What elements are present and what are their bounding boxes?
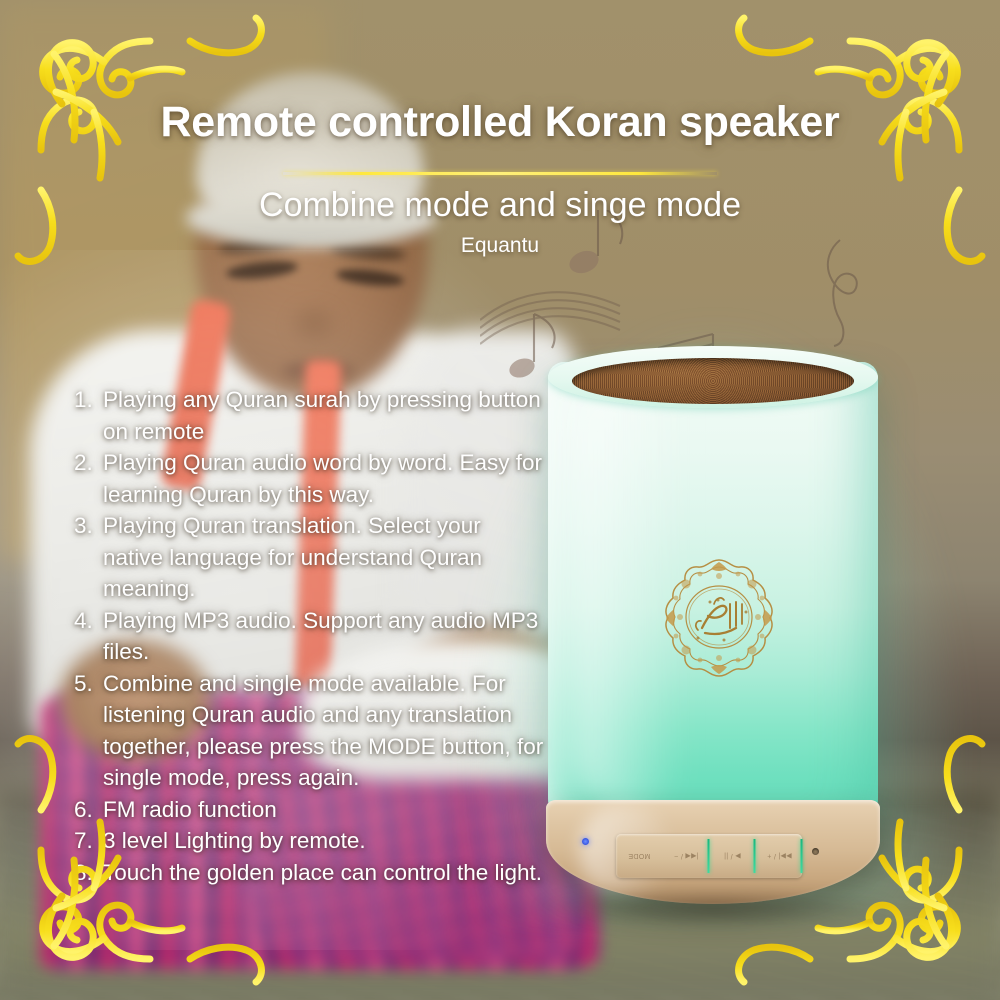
- list-item-number: 8.: [74, 857, 103, 889]
- list-item: 2. Playing Quran audio word by word. Eas…: [74, 447, 544, 510]
- list-item-text: Playing Quran translation. Select your n…: [103, 510, 544, 605]
- list-item-number: 2.: [74, 447, 103, 510]
- list-item-text: Playing MP3 audio. Support any audio MP3…: [103, 605, 544, 668]
- list-item-text: Playing Quran audio word by word. Easy f…: [103, 447, 544, 510]
- list-item-text: FM radio function: [103, 794, 544, 826]
- list-item-text: Touch the golden place can control the l…: [103, 857, 544, 889]
- list-item-number: 7.: [74, 825, 103, 857]
- list-item-text: Playing any Quran surah by pressing butt…: [103, 384, 544, 447]
- mode-button[interactable]: MODE: [616, 834, 663, 878]
- title-divider-rule: [283, 172, 717, 175]
- quran-medallion-emblem: [658, 556, 780, 680]
- quran-emblem-icon: [658, 556, 780, 680]
- product-poster: MODE |◀◀ / − ▶ / || ▶▶| / + Remote contr…: [0, 0, 1000, 1000]
- list-item-number: 3.: [74, 510, 103, 605]
- next-volume-up-button[interactable]: ▶▶| / +: [756, 834, 803, 878]
- quran-speaker-product: MODE |◀◀ / − ▶ / || ▶▶| / +: [520, 340, 910, 920]
- power-led-indicator: [582, 838, 589, 845]
- list-item: 5. Combine and single mode available. Fo…: [74, 668, 544, 794]
- list-item: 3. Playing Quran translation. Select you…: [74, 510, 544, 605]
- speaker-control-panel: MODE |◀◀ / − ▶ / || ▶▶| / +: [616, 834, 802, 878]
- page-title: Remote controlled Koran speaker: [0, 98, 1000, 147]
- page-subtitle: Combine mode and singe mode: [0, 186, 1000, 225]
- list-item-text: Combine and single mode available. For l…: [103, 668, 544, 794]
- speaker-grille-texture: [572, 358, 854, 404]
- microphone-hole: [812, 848, 819, 855]
- list-item: 6. FM radio function: [74, 794, 544, 826]
- previous-volume-down-button[interactable]: |◀◀ / −: [663, 834, 710, 878]
- list-item: 4. Playing MP3 audio. Support any audio …: [74, 605, 544, 668]
- list-item-number: 5.: [74, 668, 103, 794]
- speaker-drop-shadow: [534, 888, 894, 928]
- list-item: 7. 3 level Lighting by remote.: [74, 825, 544, 857]
- feature-list: 1. Playing any Quran surah by pressing b…: [74, 384, 544, 888]
- list-item: 8. Touch the golden place can control th…: [74, 857, 544, 889]
- play-pause-button[interactable]: ▶ / ||: [709, 834, 756, 878]
- brand-name: Equantu: [0, 234, 1000, 258]
- list-item-text: 3 level Lighting by remote.: [103, 825, 544, 857]
- list-item: 1. Playing any Quran surah by pressing b…: [74, 384, 544, 447]
- list-item-number: 1.: [74, 384, 103, 447]
- list-item-number: 4.: [74, 605, 103, 668]
- list-item-number: 6.: [74, 794, 103, 826]
